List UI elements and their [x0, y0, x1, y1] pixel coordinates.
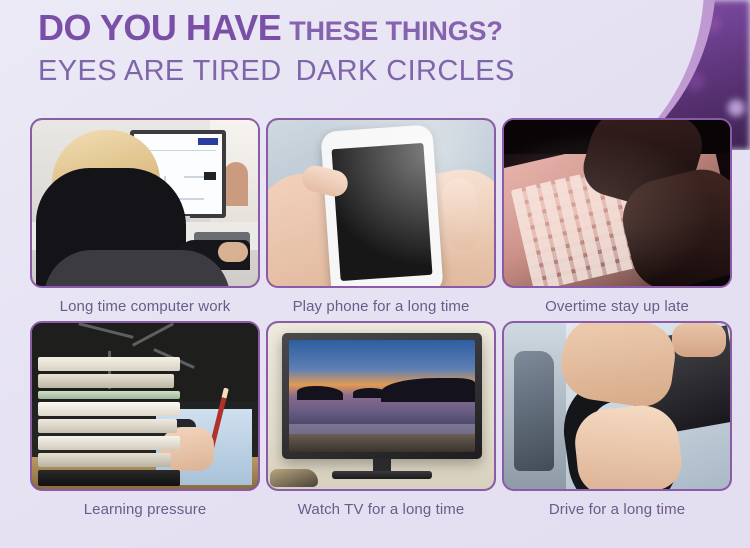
list-item: Watch TV for a long time	[266, 321, 496, 518]
subtitle-part-one: EYES ARE TIRED	[38, 55, 282, 87]
card-image-play-phone	[266, 118, 496, 288]
list-item: Drive for a long time	[502, 321, 732, 518]
subtitle-part-two: DARK CIRCLES	[296, 55, 515, 87]
stack-of-books-photo	[32, 323, 258, 489]
hands-typing-keyboard-night-photo	[504, 120, 730, 286]
card-image-driving	[502, 321, 732, 491]
card-caption: Long time computer work	[30, 298, 260, 315]
poster-banner: DO YOU HAVETHESE THINGS? EYES ARE TIREDD…	[0, 0, 750, 548]
card-image-computer-work	[30, 118, 260, 288]
card-image-learning-pressure	[30, 321, 260, 491]
page-subtitle: EYES ARE TIREDDARK CIRCLES	[38, 55, 515, 88]
card-image-stay-up-late	[502, 118, 732, 288]
card-caption: Play phone for a long time	[266, 298, 496, 315]
list-item: Overtime stay up late	[502, 118, 732, 315]
list-item: Long time computer work	[30, 118, 260, 315]
heading-block: DO YOU HAVETHESE THINGS? EYES ARE TIREDD…	[38, 10, 515, 88]
card-caption: Drive for a long time	[502, 501, 732, 518]
card-image-watch-tv	[266, 321, 496, 491]
television-sunset-beach-photo	[268, 323, 494, 489]
card-caption: Watch TV for a long time	[266, 501, 496, 518]
woman-at-computer-photo	[32, 120, 258, 286]
list-item: Play phone for a long time	[266, 118, 496, 315]
page-title-main: DO YOU HAVE	[38, 7, 281, 48]
hands-on-steering-wheel-photo	[504, 323, 730, 489]
hands-holding-smartphone-photo	[268, 120, 494, 286]
list-item: Learning pressure	[30, 321, 260, 518]
card-caption: Learning pressure	[30, 501, 260, 518]
page-title-sub: THESE THINGS?	[289, 16, 502, 46]
page-title: DO YOU HAVETHESE THINGS?	[38, 10, 515, 46]
card-caption: Overtime stay up late	[502, 298, 732, 315]
cause-card-grid: Long time computer work Play phone for a…	[30, 118, 732, 518]
